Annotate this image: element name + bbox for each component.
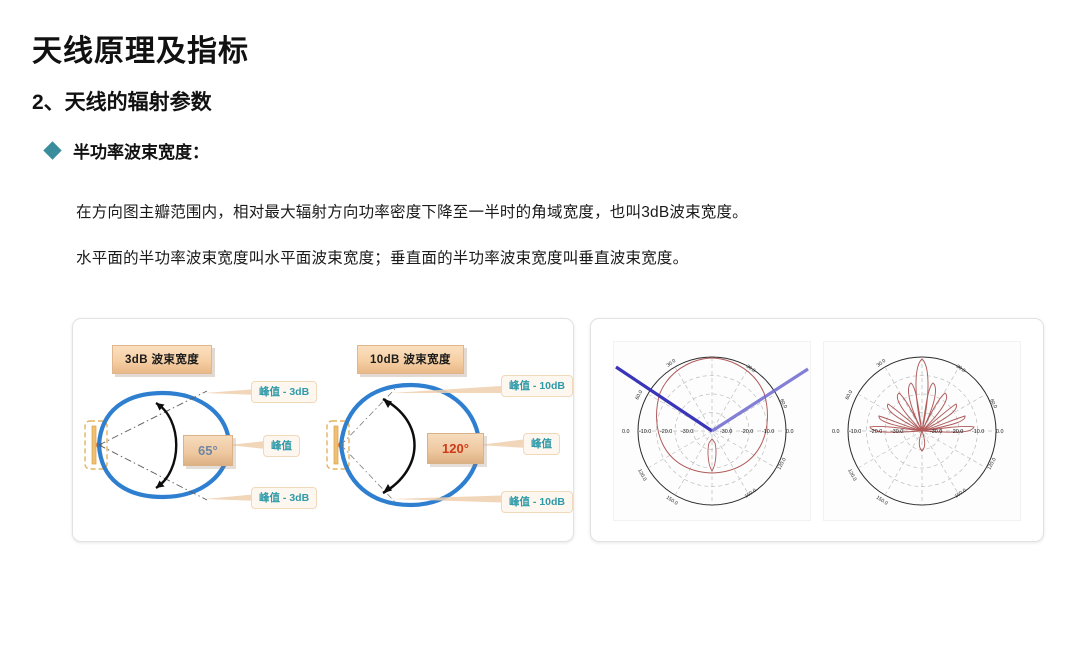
radial-label-l3: -30.0 (681, 429, 693, 435)
caption-10db-beamwidth: 10dB 波束宽度 (357, 345, 464, 374)
angle-label-60: 60.0 (778, 398, 788, 410)
tag-peak-10db-mid: 峰值 (523, 433, 560, 455)
angle-label-240: 120.0 (636, 468, 647, 482)
beamwidth-panel-inner: 3dB 波束宽度 65° 峰值 - (73, 319, 573, 541)
radial-label-r1: -10.0 (762, 429, 774, 435)
leader-line-mid (229, 441, 265, 449)
antenna-housing-icon (327, 421, 349, 469)
beamwidth-angle-value-3db: 65° (183, 435, 233, 466)
bullet-label: 半功率波束宽度： (73, 138, 209, 163)
paragraph-2: 水平面的半功率波束宽度叫水平面波束宽度；垂直面的半功率波束宽度叫垂直波束宽度。 (76, 246, 688, 268)
leader-line-bottom (391, 495, 517, 503)
angle-label-120: 120.0 (776, 457, 787, 471)
radial-label-l1: -10.0 (849, 429, 861, 435)
polar-chart-vertical: 0.0 -10.0 -20.0 -30.0 -30.0 -20.0 -10.0 … (823, 341, 1021, 521)
beamwidth-illustration-panel: 3dB 波束宽度 65° 峰值 - (72, 318, 574, 542)
half-power-ray-upper (341, 389, 395, 445)
leader-line-bottom (205, 494, 257, 501)
antenna-feed-point-icon (338, 442, 344, 448)
tag-peak-minus-10db-bottom: 峰值 - 10dB (501, 491, 573, 513)
bullet-row: 半功率波束宽度： (46, 138, 209, 163)
beamwidth-angle-value-10db: 120° (427, 433, 484, 464)
arc-arrow-upper (156, 403, 165, 411)
angle-label-300: 60.0 (844, 389, 854, 401)
arc-arrow-lower (156, 481, 165, 489)
radial-label-l0: 0.0 (622, 429, 630, 435)
marker-ray-right (712, 369, 808, 431)
radial-label-r2: -20.0 (951, 429, 963, 435)
antenna-element-icon (92, 426, 96, 464)
page-title: 天线原理及指标 (32, 26, 249, 70)
tag-peak-minus-3db-bottom: 峰值 - 3dB (251, 487, 317, 509)
angle-label-240: 120.0 (846, 468, 857, 482)
tag-peak-minus-3db-top: 峰值 - 3dB (251, 381, 317, 403)
leader-line-top (391, 385, 517, 393)
section-heading: 2、天线的辐射参数 (32, 86, 212, 116)
marker-ray-left (616, 367, 712, 431)
antenna-housing-icon (85, 421, 107, 469)
angle-label-120: 120.0 (986, 457, 997, 471)
radial-label-r3: -30.0 (720, 429, 732, 435)
radial-label-l0: 0.0 (832, 429, 840, 435)
angle-label-30: 30.0 (745, 364, 757, 375)
radial-label-r3: -30.0 (930, 429, 942, 435)
tag-peak-minus-10db-top: 峰值 - 10dB (501, 375, 573, 397)
radial-label-l1: -10.0 (639, 429, 651, 435)
tag-peak-3db-mid: 峰值 (263, 435, 300, 457)
side-lobe-r3 (922, 404, 957, 431)
half-power-ray-lower (341, 445, 395, 502)
slide-root: { "slide": { "title": "天线原理及指标", "sectio… (0, 0, 1080, 667)
beamwidth-arc (383, 399, 415, 493)
antenna-feed-point-icon (96, 442, 102, 448)
polar-chart-horizontal: 0.0 -10.0 -20.0 -30.0 -30.0 -20.0 -10.0 … (613, 341, 811, 521)
caption-3db-beamwidth: 3dB 波束宽度 (112, 345, 212, 374)
radial-label-r1: -10.0 (972, 429, 984, 435)
arc-arrow-upper (383, 399, 392, 408)
paragraph-1: 在方向图主瓣范围内，相对最大辐射方向功率密度下降至一半时的角域宽度，也叫3dB波… (76, 200, 748, 222)
diamond-bullet-icon (43, 141, 61, 159)
beamwidth-arc (156, 403, 176, 488)
angle-label-30: 30.0 (955, 364, 967, 375)
beam-diagram-3db: 3dB 波束宽度 65° 峰值 - (79, 319, 329, 541)
radial-label-r0: 0.0 (996, 429, 1004, 435)
antenna-element-icon (334, 426, 338, 464)
arc-arrow-lower (383, 484, 392, 493)
radial-label-r2: -20.0 (741, 429, 753, 435)
radial-label-l2: -20.0 (870, 429, 882, 435)
radial-label-l2: -20.0 (660, 429, 672, 435)
beam-diagram-10db: 10dB 波束宽度 120° 峰值 - 10dB 峰值 峰值 - 10dB (321, 319, 571, 541)
angle-label-300: 60.0 (634, 389, 644, 401)
radiation-pattern-panel: 0.0 -10.0 -20.0 -30.0 -30.0 -20.0 -10.0 … (590, 318, 1044, 542)
angle-label-60: 60.0 (988, 398, 998, 410)
polar-chart-horizontal-svg: 0.0 -10.0 -20.0 -30.0 -30.0 -20.0 -10.0 … (614, 342, 810, 520)
radial-label-l3: -30.0 (891, 429, 903, 435)
radial-label-r0: 0.0 (786, 429, 794, 435)
leader-line-mid (479, 439, 527, 448)
polar-chart-vertical-svg: 0.0 -10.0 -20.0 -30.0 -30.0 -20.0 -10.0 … (824, 342, 1020, 520)
leader-line-top (205, 389, 257, 395)
